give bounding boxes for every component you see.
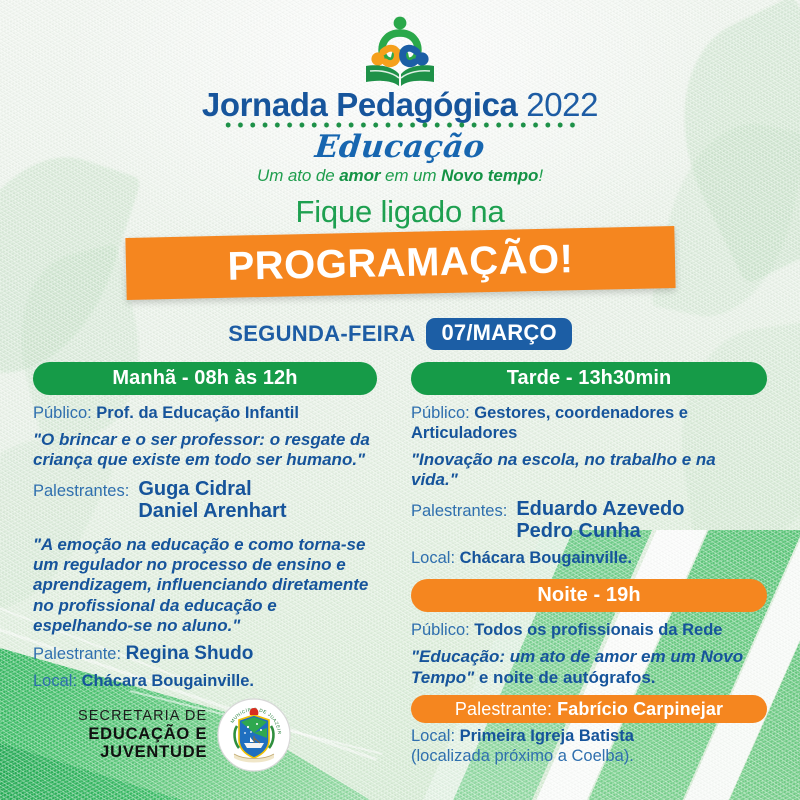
secretaria-line-3: JUVENTUDE bbox=[78, 743, 207, 761]
speakers-label: Palestrantes: bbox=[33, 478, 129, 501]
event-title-year: 2022 bbox=[526, 86, 598, 123]
audience-label: Público: bbox=[411, 621, 470, 639]
secretaria-text: SECRETARIA DE EDUCAÇÃO E JUVENTUDE bbox=[78, 708, 207, 761]
audience-label: Público: bbox=[33, 404, 92, 422]
local-value: Primeira Igreja Batista bbox=[460, 727, 634, 745]
programacao-banner: PROGRAMAÇÃO! bbox=[125, 226, 675, 300]
people-book-logo-icon bbox=[352, 16, 448, 88]
night-speaker-badge: Palestrante: Fabrício Carpinejar bbox=[411, 695, 767, 723]
morning-talk1-speakers: Palestrantes: Guga Cidral Daniel Arenhar… bbox=[33, 478, 377, 523]
audience-label: Público: bbox=[411, 404, 470, 422]
night-audience: Público: Todos os profissionais da Rede bbox=[411, 621, 767, 641]
night-quote-rest: e noite de autógrafos. bbox=[474, 668, 655, 687]
tagline-part-2: em um bbox=[380, 166, 441, 185]
juazeiro-coat-of-arms-icon: MUNICÍPIO DE JUAZEIRO bbox=[217, 698, 291, 772]
local-label: Local: bbox=[411, 549, 455, 567]
programacao-banner-label: PROGRAMAÇÃO! bbox=[227, 237, 574, 290]
session-column-morning: Manhã - 08h às 12h Público: Prof. da Edu… bbox=[33, 362, 377, 698]
speaker-name: Regina Shudo bbox=[126, 643, 254, 664]
hero-kicker: Fique ligado na bbox=[0, 194, 800, 230]
speakers-label: Palestrantes: bbox=[411, 498, 507, 521]
speaker-name: Daniel Arenhart bbox=[138, 500, 286, 522]
speaker-name: Pedro Cunha bbox=[516, 520, 640, 542]
secretaria-line-2: EDUCAÇÃO E bbox=[78, 725, 207, 743]
morning-talk2-quote: "A emoção na educação e como torna-se um… bbox=[33, 535, 377, 637]
speaker-label: Palestrante: bbox=[455, 699, 552, 720]
afternoon-local: Local: Chácara Bougainville. bbox=[411, 549, 767, 569]
event-logo bbox=[0, 16, 800, 88]
date-badge: 07/MARÇO bbox=[426, 318, 571, 350]
poster-canvas: Jornada Pedagógica 2022 Educação Um ato … bbox=[0, 0, 800, 800]
speaker-label: Palestrante: bbox=[33, 645, 121, 663]
speaker-name: Fabrício Carpinejar bbox=[557, 699, 723, 720]
event-subtitle-script: Educação bbox=[0, 129, 800, 165]
weekday-label: SEGUNDA-FEIRA bbox=[228, 321, 415, 347]
morning-talk1-quote: "O brincar e o ser professor: o resgate … bbox=[33, 430, 377, 471]
session-pill-morning: Manhã - 08h às 12h bbox=[33, 362, 377, 395]
audience-value: Todos os profissionais da Rede bbox=[474, 621, 722, 639]
day-row: SEGUNDA-FEIRA 07/MARÇO bbox=[0, 318, 800, 350]
tagline-part-3: ! bbox=[538, 166, 543, 185]
local-label: Local: bbox=[411, 727, 455, 745]
afternoon-speakers: Palestrantes: Eduardo Azevedo Pedro Cunh… bbox=[411, 498, 767, 543]
tagline-bold-2: Novo tempo bbox=[441, 166, 538, 185]
night-local: Local: Primeira Igreja Batista bbox=[411, 727, 767, 747]
audience-value: Prof. da Educação Infantil bbox=[96, 404, 299, 422]
morning-talk2-speaker: Palestrante: Regina Shudo bbox=[33, 643, 377, 666]
session-pill-afternoon: Tarde - 13h30min bbox=[411, 362, 767, 395]
morning-local: Local: Chácara Bougainville. bbox=[33, 672, 377, 692]
event-title-bold: Jornada Pedagógica bbox=[202, 86, 518, 123]
session-column-afternoon-night: Tarde - 13h30min Público: Gestores, coor… bbox=[411, 362, 767, 773]
afternoon-quote: "Inovação na escola, no trabalho e na vi… bbox=[411, 450, 767, 491]
speaker-name: Eduardo Azevedo bbox=[516, 498, 684, 520]
event-title: Jornada Pedagógica 2022 bbox=[0, 86, 800, 124]
night-local-extra: (localizada próximo a Coelba). bbox=[411, 747, 767, 767]
crest: MUNICÍPIO DE JUAZEIRO bbox=[217, 698, 291, 772]
secretaria-line-1: SECRETARIA DE bbox=[78, 708, 207, 724]
session-pill-night: Noite - 19h bbox=[411, 579, 767, 612]
local-label: Local: bbox=[33, 672, 77, 690]
speaker-names: Guga Cidral Daniel Arenhart bbox=[138, 478, 286, 523]
dotted-divider bbox=[222, 122, 578, 128]
afternoon-audience: Público: Gestores, coordenadores e Artic… bbox=[411, 404, 767, 444]
morning-audience: Público: Prof. da Educação Infantil bbox=[33, 404, 377, 424]
speaker-names: Eduardo Azevedo Pedro Cunha bbox=[516, 498, 684, 543]
event-tagline: Um ato de amor em um Novo tempo! bbox=[0, 166, 800, 186]
night-quote: "Educação: um ato de amor em um Novo Tem… bbox=[411, 647, 767, 688]
footer-brand: SECRETARIA DE EDUCAÇÃO E JUVENTUDE MUNIC… bbox=[78, 698, 291, 772]
local-value: Chácara Bougainville. bbox=[82, 672, 254, 690]
speaker-name: Guga Cidral bbox=[138, 478, 251, 500]
local-extra: (localizada próximo a Coelba). bbox=[411, 747, 634, 765]
local-value: Chácara Bougainville. bbox=[460, 549, 632, 567]
tagline-part-1: Um ato de bbox=[257, 166, 339, 185]
tagline-bold-1: amor bbox=[339, 166, 380, 185]
